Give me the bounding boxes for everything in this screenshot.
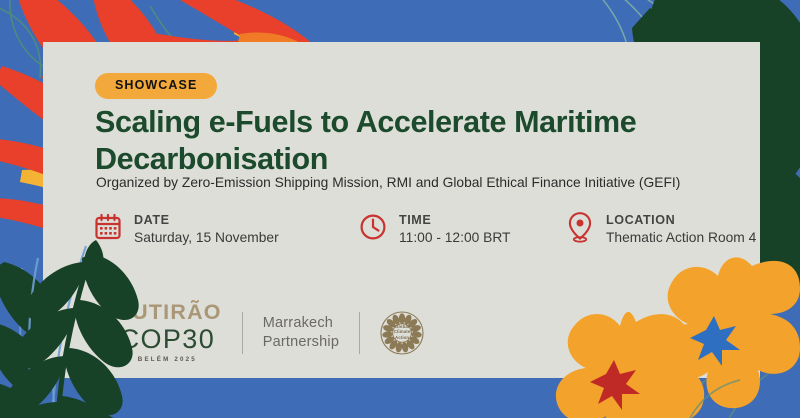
- cop30-belem-text: BELÉM 2025: [138, 357, 197, 363]
- gca-line-3: Action: [395, 335, 409, 340]
- location-pin-icon: [565, 210, 595, 244]
- logo-divider-right: [359, 312, 360, 354]
- marrakech-partnership-logo: Marrakech Partnership: [263, 314, 339, 351]
- marrakech-line-1: Marrakech: [263, 315, 333, 331]
- showcase-badge: SHOWCASE: [95, 73, 217, 99]
- organizer-line: Organized by Zero-Emission Shipping Miss…: [96, 174, 756, 192]
- event-poster: SHOWCASE Scaling e-Fuels to Accelerate M…: [0, 0, 800, 418]
- meta-item-location: LOCATION Thematic Action Room 4: [565, 210, 756, 248]
- logo-divider-left: [242, 312, 243, 354]
- page-title: Scaling e-Fuels to Accelerate Maritime D…: [95, 104, 735, 178]
- cop30-logo: MUTIRÃO COP30 BELÉM 2025: [113, 302, 222, 363]
- gca-line-2: Climate: [394, 330, 411, 335]
- meta-label-date: DATE: [134, 213, 279, 227]
- meta-text-location: LOCATION Thematic Action Room 4: [606, 210, 756, 248]
- meta-label-time: TIME: [399, 213, 510, 227]
- meta-value-date: Saturday, 15 November: [134, 229, 279, 248]
- cop30-mutirao-text: MUTIRÃO: [113, 302, 222, 324]
- meta-label-location: LOCATION: [606, 213, 756, 227]
- gca-line-1: Global: [395, 324, 409, 329]
- meta-item-time: TIME 11:00 - 12:00 BRT: [358, 210, 510, 248]
- calendar-icon: [93, 210, 123, 244]
- event-card: SHOWCASE Scaling e-Fuels to Accelerate M…: [43, 42, 760, 378]
- cop30-title-text: COP30: [120, 325, 216, 353]
- clock-icon: [358, 210, 388, 244]
- meta-item-date: DATE Saturday, 15 November: [93, 210, 279, 248]
- global-climate-action-caption: Global Climate Action: [380, 324, 424, 342]
- meta-text-time: TIME 11:00 - 12:00 BRT: [399, 210, 510, 248]
- global-climate-action-logo: Global Climate Action: [380, 311, 424, 355]
- meta-text-date: DATE Saturday, 15 November: [134, 210, 279, 248]
- event-meta-row: DATE Saturday, 15 November TIME 11:00 - …: [93, 210, 753, 264]
- meta-value-location: Thematic Action Room 4: [606, 229, 756, 248]
- marrakech-line-2: Partnership: [263, 334, 339, 350]
- meta-value-time: 11:00 - 12:00 BRT: [399, 229, 510, 248]
- footer-logos: MUTIRÃO COP30 BELÉM 2025 Marrakech Partn…: [113, 302, 424, 363]
